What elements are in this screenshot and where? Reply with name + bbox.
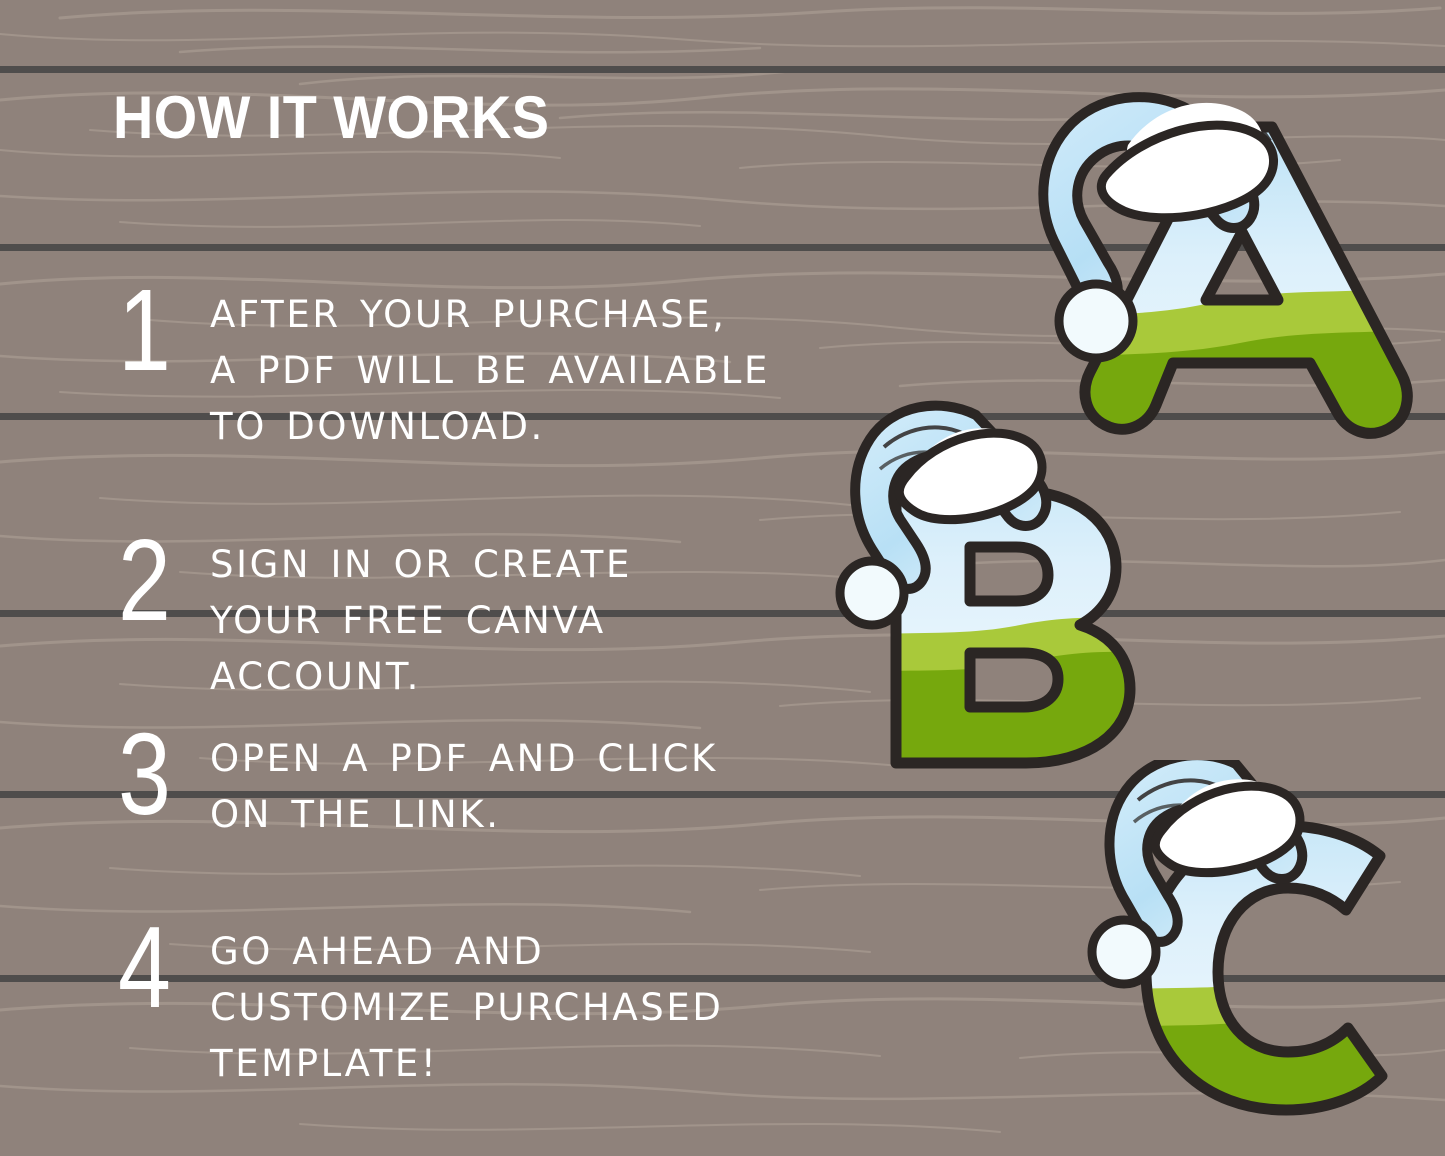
step-text-1: AFTER YOUR PURCHASE, A PDF WILL BE AVAIL… bbox=[210, 278, 770, 456]
letter-c-with-santa-hat bbox=[1080, 760, 1435, 1120]
step-item-4: 4 GO AHEAD AND CUSTOMIZE PURCHASED TEMPL… bbox=[118, 915, 780, 1093]
step-item-2: 2 SIGN IN OR CREATE YOUR FREE CANVA ACCO… bbox=[118, 528, 755, 706]
step-text-4: GO AHEAD AND CUSTOMIZE PURCHASED TEMPLAT… bbox=[210, 915, 780, 1093]
how-it-works-graphic: HOW IT WORKS 1 AFTER YOUR PURCHASE, A PD… bbox=[0, 0, 1445, 1156]
letter-b-with-santa-hat bbox=[830, 395, 1175, 770]
step-number-4: 4 bbox=[118, 915, 193, 1019]
step-number-2: 2 bbox=[118, 528, 193, 632]
step-number-3: 3 bbox=[118, 722, 193, 826]
step-item-1: 1 AFTER YOUR PURCHASE, A PDF WILL BE AVA… bbox=[118, 278, 770, 456]
step-item-3: 3 OPEN A PDF AND CLICK ON THE LINK. bbox=[118, 722, 780, 843]
step-text-3: OPEN A PDF AND CLICK ON THE LINK. bbox=[210, 722, 780, 843]
step-text-2: SIGN IN OR CREATE YOUR FREE CANVA ACCOUN… bbox=[210, 528, 755, 706]
step-number-1: 1 bbox=[118, 278, 193, 382]
steps-list: 1 AFTER YOUR PURCHASE, A PDF WILL BE AVA… bbox=[0, 0, 850, 1156]
